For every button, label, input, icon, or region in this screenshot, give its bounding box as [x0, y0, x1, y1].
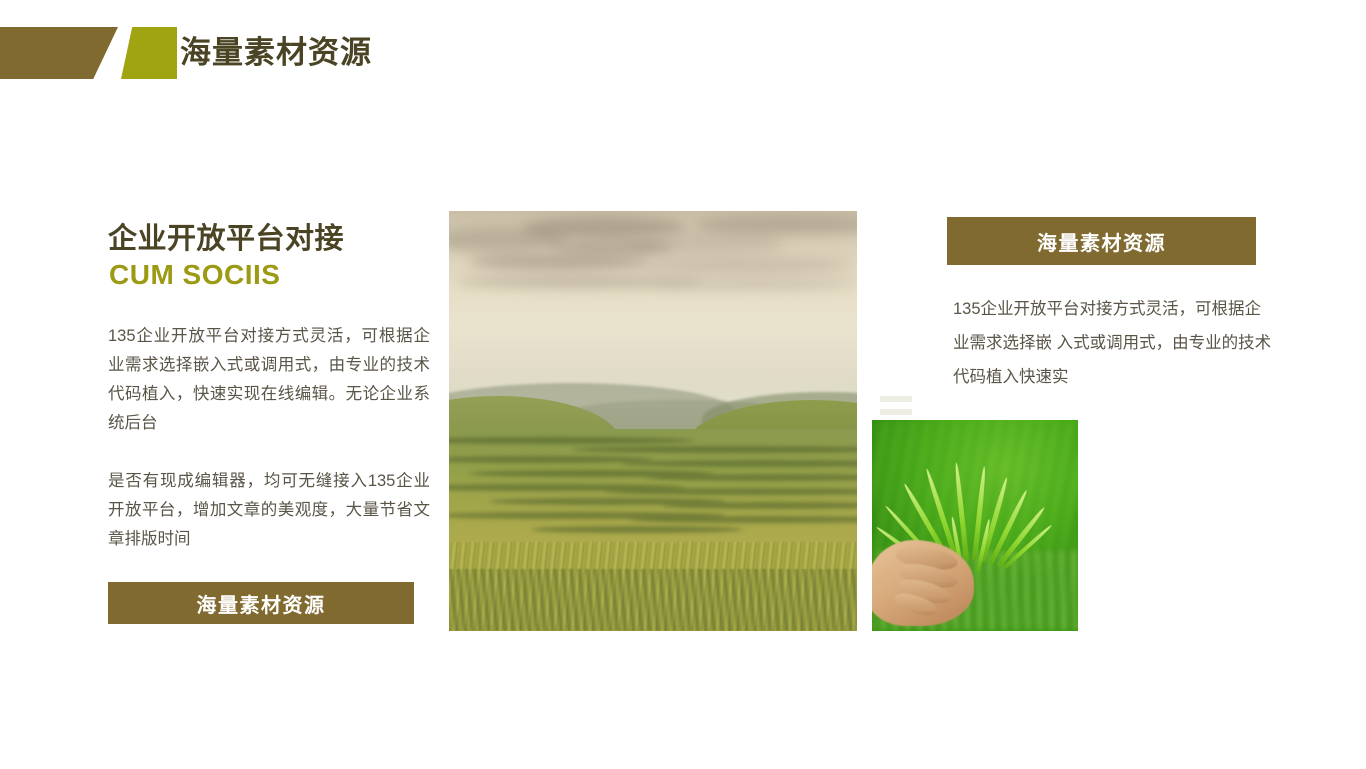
left-content-column: 企业开放平台对接 CUM SOCIIS 135企业开放平台对接方式灵活，可根据企…: [108, 221, 438, 554]
left-badge[interactable]: 海量素材资源: [108, 582, 414, 624]
header-shape-olive: [121, 27, 177, 79]
center-image-wheat-field: [449, 542, 857, 631]
page-title: 海量素材资源: [180, 25, 372, 81]
slide-header: 海量素材资源: [0, 27, 1366, 79]
slide-canvas: 海量素材资源 企业开放平台对接 CUM SOCIIS 135企业开放平台对接方式…: [0, 0, 1366, 769]
right-badge[interactable]: 海量素材资源: [947, 217, 1256, 265]
center-landscape-image: [449, 211, 857, 631]
left-heading-chinese: 企业开放平台对接: [108, 221, 438, 257]
right-badge-label: 海量素材资源: [1037, 227, 1166, 256]
left-paragraph-1: 135企业开放平台对接方式灵活，可根据企业需求选择嵌入式或调用式，由专业的技术代…: [108, 322, 430, 438]
left-paragraph-2: 是否有现成编辑器，均可无缝接入135企业开放平台，增加文章的美观度，大量节省文章…: [108, 467, 430, 554]
equals-decoration-icon: [880, 396, 912, 415]
left-heading-english: CUM SOCIIS: [109, 257, 438, 293]
header-shape-brown: [0, 27, 118, 79]
right-seedling-image: [872, 420, 1078, 631]
right-paragraph: 135企业开放平台对接方式灵活，可根据企业需求选择嵌 入式或调用式，由专业的技术…: [953, 292, 1275, 394]
left-badge-label: 海量素材资源: [197, 589, 326, 618]
center-image-terraces: [449, 429, 857, 631]
